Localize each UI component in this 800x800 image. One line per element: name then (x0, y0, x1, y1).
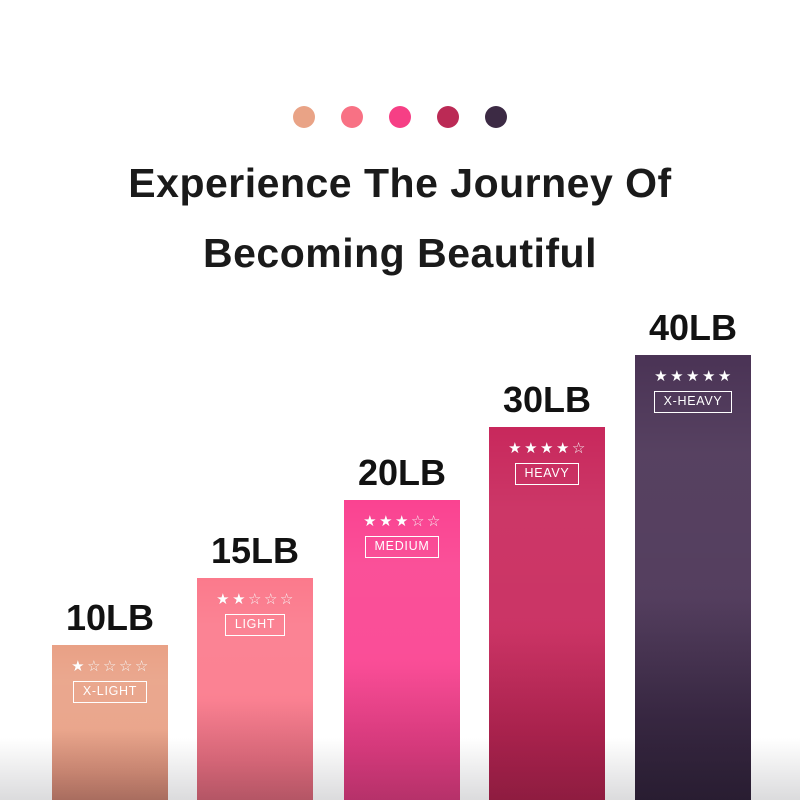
resistance-level-badge: X-LIGHT (73, 681, 147, 703)
star-filled-icon: ★ (71, 659, 85, 674)
bar-weight-label: 15LB (211, 530, 299, 572)
star-rating: ★★★☆☆ (363, 514, 441, 529)
resistance-level-badge: HEAVY (515, 463, 580, 485)
star-rating: ★★★★★ (654, 369, 732, 384)
bar-label-block: ★☆☆☆☆X-LIGHT (52, 659, 168, 703)
star-filled-icon: ★ (686, 369, 700, 384)
bar-label-block: ★★★★☆HEAVY (489, 441, 605, 485)
bar-40lb[interactable]: ★★★★★X-HEAVY (635, 355, 751, 800)
bar-gloss-overlay (635, 355, 751, 800)
color-swatch-row (0, 106, 800, 128)
bar-weight-label: 10LB (66, 597, 154, 639)
star-empty-icon: ☆ (280, 592, 294, 607)
page-title-line-1: Experience The Journey Of (0, 148, 800, 218)
bar-group-15lb[interactable]: 15LB★★☆☆☆LIGHT (197, 526, 313, 800)
star-empty-icon: ☆ (119, 659, 133, 674)
dot-x-heavy-swatch (485, 106, 507, 128)
star-filled-icon: ★ (232, 592, 246, 607)
star-empty-icon: ☆ (103, 659, 117, 674)
resistance-level-badge: MEDIUM (365, 536, 440, 558)
star-filled-icon: ★ (216, 592, 230, 607)
star-filled-icon: ★ (556, 441, 570, 456)
star-empty-icon: ☆ (248, 592, 262, 607)
bar-group-40lb[interactable]: 40LB★★★★★X-HEAVY (635, 303, 751, 800)
star-empty-icon: ☆ (572, 441, 586, 456)
star-empty-icon: ☆ (135, 659, 149, 674)
resistance-level-badge: X-HEAVY (654, 391, 733, 413)
bar-weight-label: 40LB (649, 307, 737, 349)
dot-x-light-swatch (293, 106, 315, 128)
star-empty-icon: ☆ (427, 514, 441, 529)
bar-group-10lb[interactable]: 10LB★☆☆☆☆X-LIGHT (52, 593, 168, 800)
star-empty-icon: ☆ (411, 514, 425, 529)
dot-light-swatch (341, 106, 363, 128)
star-filled-icon: ★ (718, 369, 732, 384)
bar-10lb[interactable]: ★☆☆☆☆X-LIGHT (52, 645, 168, 800)
bar-weight-label: 30LB (503, 379, 591, 421)
bar-label-block: ★★★☆☆MEDIUM (344, 514, 460, 558)
resistance-level-badge: LIGHT (225, 614, 285, 636)
star-filled-icon: ★ (508, 441, 522, 456)
bar-group-30lb[interactable]: 30LB★★★★☆HEAVY (489, 375, 605, 800)
star-rating: ★★☆☆☆ (216, 592, 294, 607)
bar-label-block: ★★★★★X-HEAVY (635, 369, 751, 413)
star-rating: ★★★★☆ (508, 441, 586, 456)
bar-20lb[interactable]: ★★★☆☆MEDIUM (344, 500, 460, 800)
page-title-line-2: Becoming Beautiful (0, 218, 800, 288)
dot-heavy-swatch (437, 106, 459, 128)
bar-30lb[interactable]: ★★★★☆HEAVY (489, 427, 605, 800)
star-filled-icon: ★ (540, 441, 554, 456)
star-filled-icon: ★ (395, 514, 409, 529)
star-rating: ★☆☆☆☆ (71, 659, 149, 674)
bar-15lb[interactable]: ★★☆☆☆LIGHT (197, 578, 313, 800)
bar-group-20lb[interactable]: 20LB★★★☆☆MEDIUM (344, 448, 460, 800)
bar-label-block: ★★☆☆☆LIGHT (197, 592, 313, 636)
star-filled-icon: ★ (363, 514, 377, 529)
star-empty-icon: ☆ (87, 659, 101, 674)
dot-medium-swatch (389, 106, 411, 128)
star-filled-icon: ★ (702, 369, 716, 384)
star-empty-icon: ☆ (264, 592, 278, 607)
star-filled-icon: ★ (670, 369, 684, 384)
bar-weight-label: 20LB (358, 452, 446, 494)
star-filled-icon: ★ (379, 514, 393, 529)
star-filled-icon: ★ (654, 369, 668, 384)
star-filled-icon: ★ (524, 441, 538, 456)
page-title: Experience The Journey Of Becoming Beaut… (0, 148, 800, 288)
